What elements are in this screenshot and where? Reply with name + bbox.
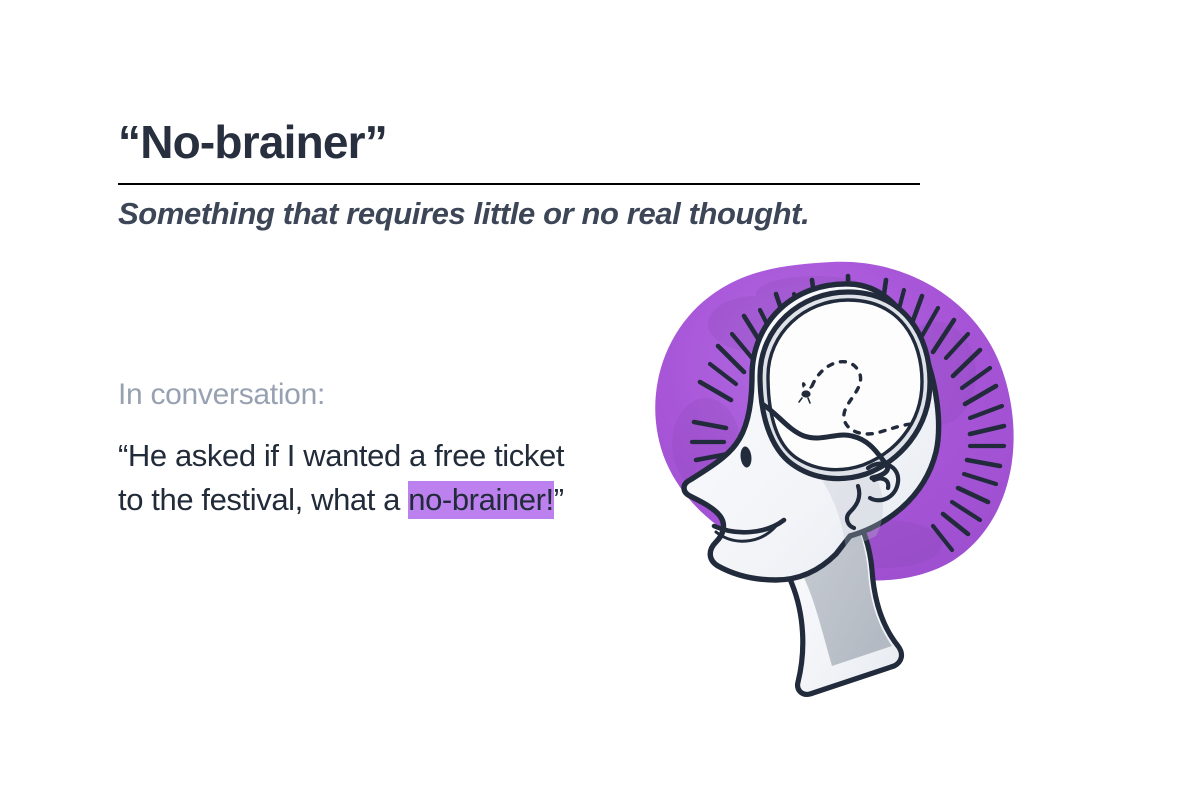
page-title: “No-brainer” (118, 118, 928, 168)
definition-text: Something that requires little or no rea… (118, 194, 948, 234)
definition-card-page: “No-brainer” Something that requires lit… (0, 0, 1200, 800)
highlighted-term: no-brainer! (408, 481, 554, 519)
empty-brain-cavity (760, 292, 930, 479)
usage-quote: “He asked if I wanted a free ticket to t… (118, 434, 588, 522)
head-illustration-svg (636, 254, 1032, 724)
usage-quote-tail: ” (554, 482, 564, 517)
divider (118, 183, 920, 185)
head-illustration (636, 254, 1032, 724)
usage-section-label: In conversation: (118, 377, 325, 413)
